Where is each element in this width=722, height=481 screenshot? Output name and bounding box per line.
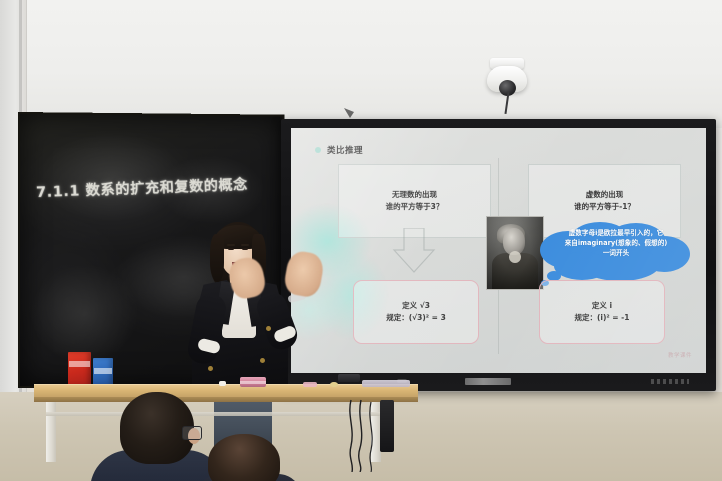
teacher-blazer-button xyxy=(208,366,213,371)
presentation-slide: 类比推理 无理数的出现 谁的平方等于3？ 虚数的出现 谁的平方等于-1？ xyxy=(291,128,706,373)
panel-speaker-vents xyxy=(651,379,689,384)
downward-arrow-icon xyxy=(390,228,438,274)
box-line-1: 定义 √3 xyxy=(402,301,430,310)
slide-watermark: 教学课件 xyxy=(668,351,692,359)
panel-remote-control[interactable] xyxy=(338,374,360,382)
teacher-brow-left xyxy=(227,244,235,246)
eraser-band xyxy=(240,381,266,384)
slide-title: 类比推理 xyxy=(327,144,363,156)
teacher-hand-right xyxy=(282,249,325,299)
hanging-cables xyxy=(345,398,407,472)
callout-line-2: 来自imaginary(想象的、假想的) xyxy=(565,239,668,247)
box-line-1: 定义 i xyxy=(592,301,612,310)
box-line-1: 虚数的出现 xyxy=(586,190,624,199)
box-line-2: 规定：(i)² = -1 xyxy=(574,313,629,322)
box-line-2: 规定：(√3)² = 3 xyxy=(386,313,446,322)
blue-box-label xyxy=(94,368,112,374)
teacher-brow-right xyxy=(241,244,249,246)
red-box-label xyxy=(69,361,90,367)
red-chalk-box xyxy=(68,352,91,386)
box-line-1: 无理数的出现 xyxy=(392,190,437,199)
slide-title-bullet-icon xyxy=(315,147,321,153)
slide-box-define-i: 定义 i 规定：(i)² = -1 xyxy=(539,280,665,344)
cloud-callout-text: 虚数字母i是欧拉最早引入的，它 来自imaginary(想象的、假想的) 一词开… xyxy=(545,229,687,259)
slide-box-define-sqrt3: 定义 √3 规定：(√3)² = 3 xyxy=(353,280,479,344)
callout-line-3: 一词开头 xyxy=(603,249,629,257)
panel-brand-logo xyxy=(465,378,511,385)
lectern-leg-left xyxy=(46,402,56,462)
chalk-stick-white xyxy=(219,381,226,386)
teacher-blazer-button xyxy=(260,358,265,363)
classroom-scene: 7.1.1 数系的扩充和复数的概念 类比推理 无理数的出现 谁的平方等于3？ xyxy=(0,0,722,481)
box-line-2: 谁的平方等于3？ xyxy=(386,202,444,211)
box-line-2: 谁的平方等于-1？ xyxy=(574,202,635,211)
panel-screen[interactable]: 类比推理 无理数的出现 谁的平方等于3？ 虚数的出现 谁的平方等于-1？ xyxy=(291,128,706,373)
slide-box-irrational-question: 无理数的出现 谁的平方等于3？ xyxy=(338,164,491,238)
dome-security-camera xyxy=(484,58,530,110)
student-head xyxy=(208,434,280,481)
marker-tray xyxy=(362,380,410,387)
student-foreground-center xyxy=(196,434,306,481)
interactive-flat-panel[interactable]: 类比推理 无理数的出现 谁的平方等于3？ 虚数的出现 谁的平方等于-1？ xyxy=(281,119,716,391)
upper-wall xyxy=(0,0,722,128)
teacher-hair-left xyxy=(210,234,224,282)
blackboard-chalk-heading: 7.1.1 数系的扩充和复数的概念 xyxy=(36,172,272,202)
chalk-stick-yellow xyxy=(330,382,338,387)
teacher-blazer-button xyxy=(266,326,271,331)
chalk-stick-pink xyxy=(303,382,317,387)
portrait-vignette xyxy=(487,217,543,289)
callout-line-1: 虚数字母i是欧拉最早引入的，它 xyxy=(569,229,664,237)
